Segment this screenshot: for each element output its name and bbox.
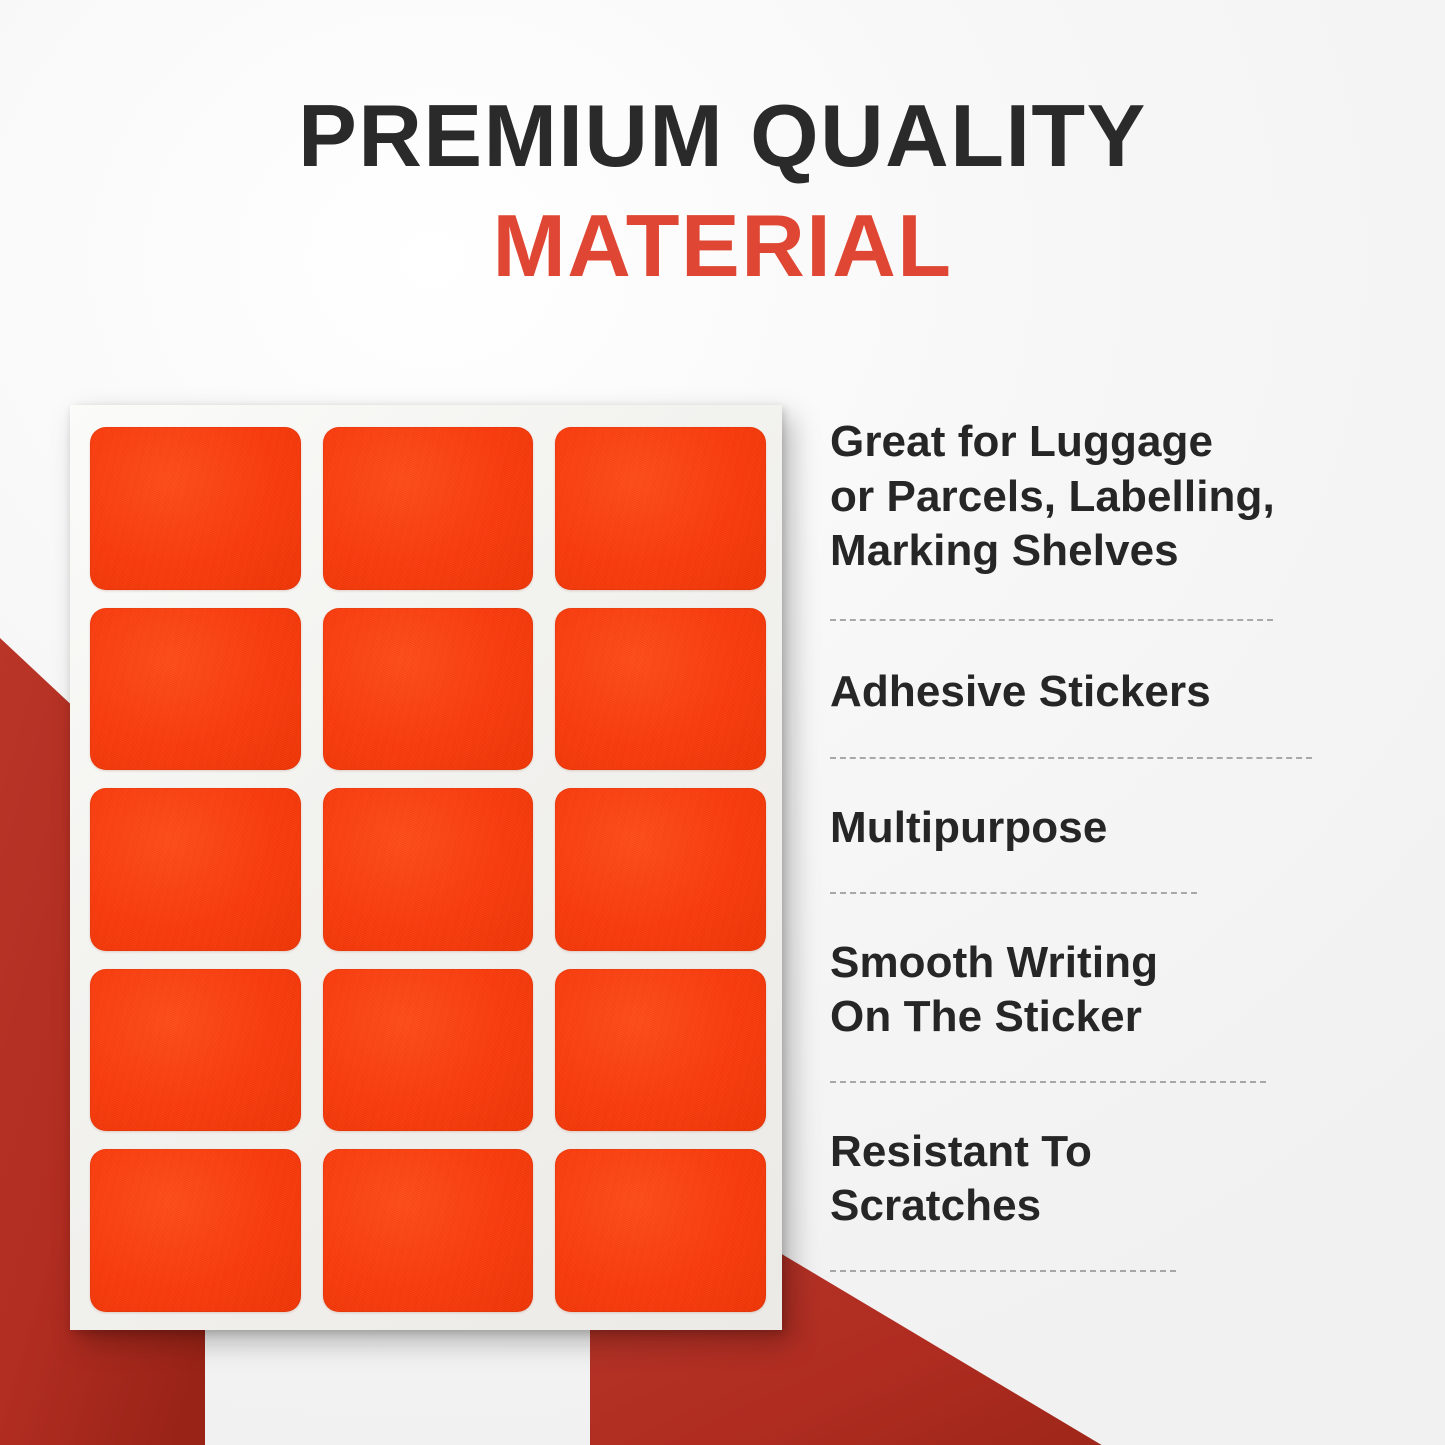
sticker-swatch: [90, 608, 301, 771]
sticker-backing-sheet: [70, 405, 782, 1330]
feature-item: Resistant To Scratches: [830, 1083, 1390, 1272]
feature-divider: [830, 1270, 1176, 1272]
feature-item: Smooth Writing On The Sticker: [830, 894, 1390, 1083]
sticker-swatch: [323, 427, 534, 590]
headline-line-primary: PREMIUM QUALITY: [0, 92, 1445, 180]
feature-item: Multipurpose: [830, 759, 1390, 894]
sticker-swatch: [555, 608, 766, 771]
sticker-swatch: [323, 1149, 534, 1312]
sticker-swatch: [323, 969, 534, 1132]
feature-item: Adhesive Stickers: [830, 621, 1390, 760]
product-image-sticker-sheet: [70, 405, 782, 1330]
feature-divider: [830, 757, 1312, 759]
feature-label: Adhesive Stickers: [830, 621, 1390, 720]
feature-label: Smooth Writing On The Sticker: [830, 894, 1390, 1045]
sticker-swatch: [555, 969, 766, 1132]
feature-list: Great for Luggage or Parcels, Labelling,…: [830, 405, 1390, 1272]
sticker-swatch: [555, 788, 766, 951]
sticker-swatch: [90, 427, 301, 590]
sticker-swatch: [323, 788, 534, 951]
feature-label: Great for Luggage or Parcels, Labelling,…: [830, 405, 1390, 579]
sticker-swatch: [323, 608, 534, 771]
feature-item: Great for Luggage or Parcels, Labelling,…: [830, 405, 1390, 621]
sticker-swatch: [90, 969, 301, 1132]
sticker-grid: [90, 427, 766, 1312]
feature-label: Resistant To Scratches: [830, 1083, 1390, 1234]
feature-divider: [830, 1081, 1266, 1083]
feature-label: Multipurpose: [830, 759, 1390, 856]
feature-divider: [830, 892, 1197, 894]
feature-divider: [830, 619, 1273, 621]
sticker-swatch: [90, 788, 301, 951]
headline-line-accent: MATERIAL: [0, 202, 1445, 290]
sticker-swatch: [90, 1149, 301, 1312]
sticker-swatch: [555, 1149, 766, 1312]
product-feature-banner: PREMIUM QUALITY MATERIAL: [0, 0, 1445, 1445]
sticker-swatch: [555, 427, 766, 590]
page-title: PREMIUM QUALITY MATERIAL: [0, 92, 1445, 290]
